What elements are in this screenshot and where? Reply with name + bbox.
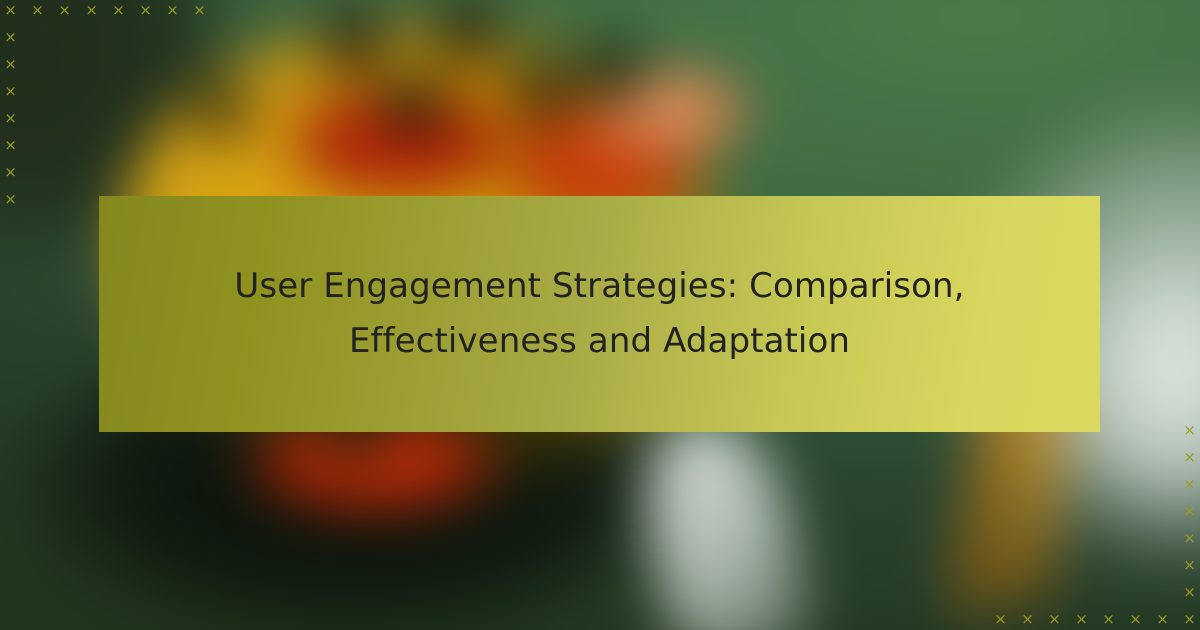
title-banner: User Engagement Strategies: Comparison, … bbox=[99, 196, 1100, 432]
berry bbox=[377, 79, 455, 149]
berry bbox=[195, 87, 256, 151]
social-share-card: ××××××××××××××× ××××××××××××××× User Eng… bbox=[0, 0, 1200, 630]
berry bbox=[511, 64, 579, 130]
berry bbox=[324, 9, 388, 92]
page-title: User Engagement Strategies: Comparison, … bbox=[170, 259, 1030, 369]
berry bbox=[579, 43, 653, 117]
berry bbox=[437, 0, 503, 76]
